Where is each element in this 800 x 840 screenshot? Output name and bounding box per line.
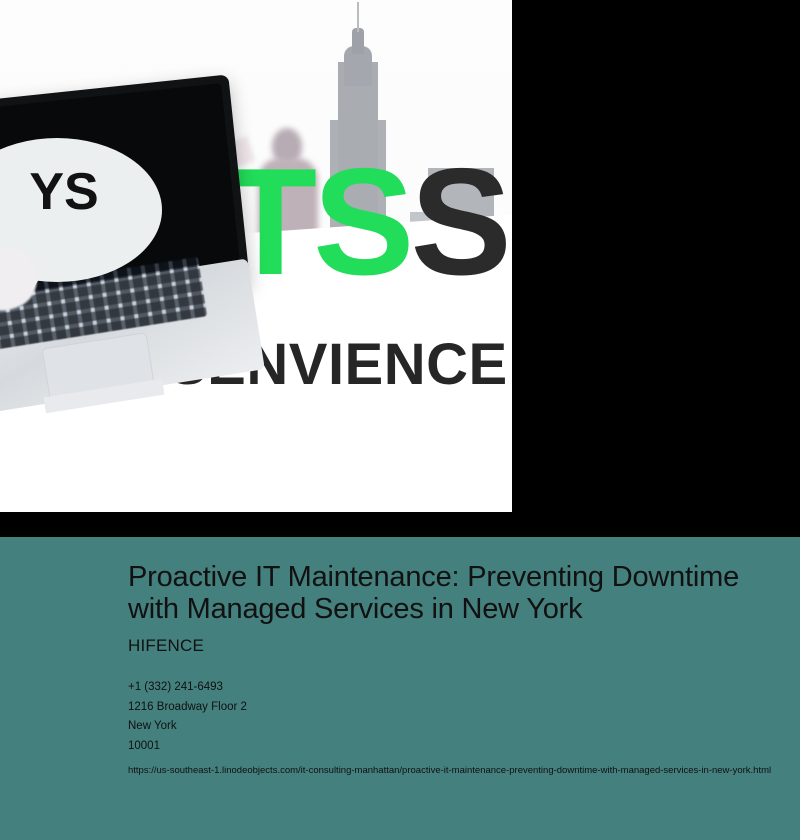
source-url[interactable]: https://us-southeast-1.linodeobjects.com…: [128, 761, 792, 780]
hero-image: ITSS SENVIENCE YS: [0, 0, 512, 512]
page-title: Proactive IT Maintenance: Preventing Dow…: [128, 561, 748, 626]
page-root: ITSS SENVIENCE YS Proactive IT Maintenan…: [0, 0, 800, 840]
hero-word-part-3: S: [410, 137, 507, 307]
contact-city: New York: [128, 717, 792, 737]
hero-word-part-2: TS: [224, 137, 410, 307]
contact-block: +1 (332) 241-6493 1216 Broadway Floor 2 …: [128, 678, 792, 757]
caption-panel: Proactive IT Maintenance: Preventing Dow…: [0, 537, 800, 840]
skyline-esb-spire: [357, 2, 359, 32]
speech-bubble-label: YS: [8, 162, 120, 222]
brand-name: HIFENCE: [128, 636, 792, 656]
contact-street: 1216 Broadway Floor 2: [128, 698, 792, 718]
caption-content: Proactive IT Maintenance: Preventing Dow…: [128, 561, 792, 780]
contact-postal-code: 10001: [128, 737, 792, 757]
contact-phone: +1 (332) 241-6493: [128, 678, 792, 698]
